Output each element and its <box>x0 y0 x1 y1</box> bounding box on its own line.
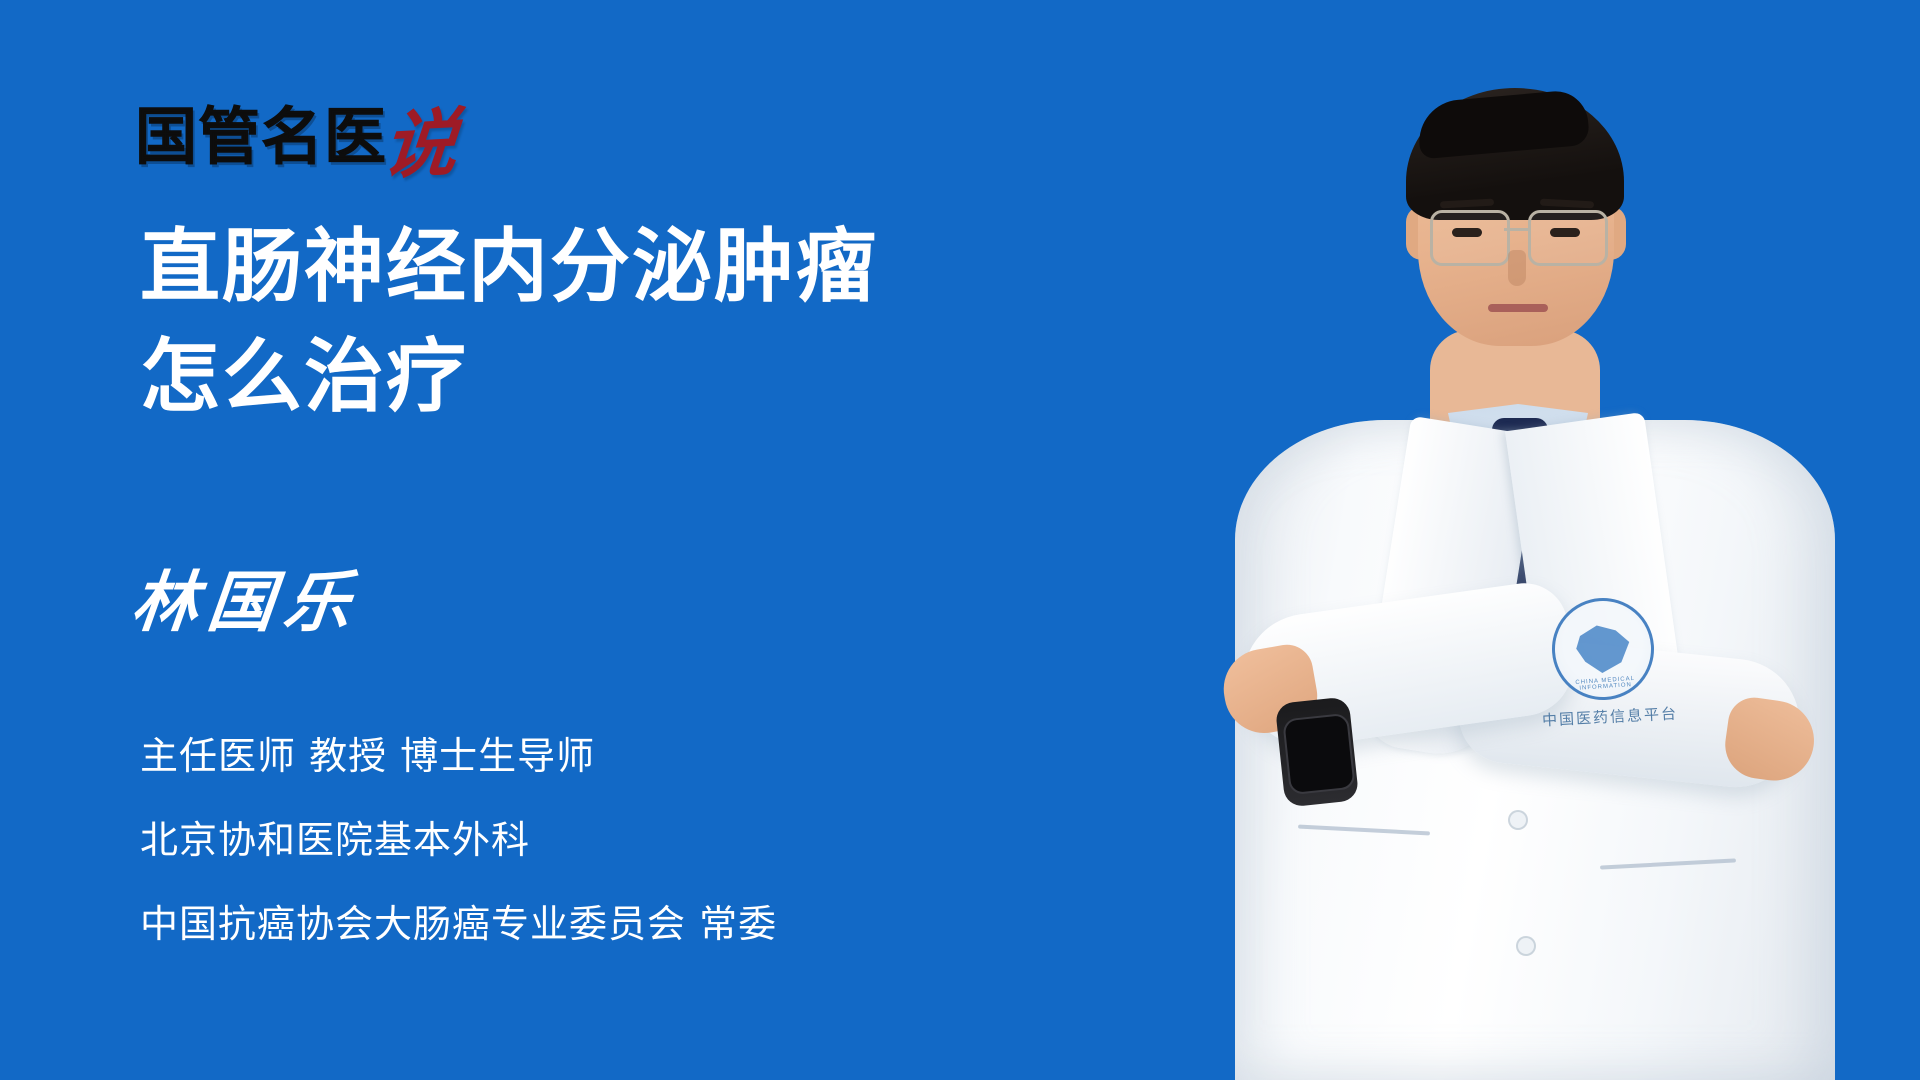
coat-button-lower <box>1518 938 1534 954</box>
eyeglasses-lens-right <box>1528 210 1608 266</box>
eye-right <box>1550 228 1580 237</box>
credential-line-1: 主任医师 教授 博士生导师 <box>140 714 1140 798</box>
page-title-line-2: 怎么治疗 <box>140 322 1140 432</box>
credential-line-3: 中国抗癌协会大肠癌专业委员会 常委 <box>140 882 1140 966</box>
coat-button-upper <box>1510 812 1526 828</box>
brand-logo-main-text: 国管名医 <box>135 106 387 168</box>
doctor-name: 林国乐 <box>128 562 364 642</box>
brand-logo: 国管名医 说 <box>135 96 457 168</box>
eyeglasses-bridge <box>1504 228 1530 231</box>
page-title-line-1: 直肠神经内分泌肿瘤 <box>140 212 1140 322</box>
emblem-map-shape <box>1572 621 1633 677</box>
credential-line-2: 北京协和医院基本外科 <box>140 798 1140 882</box>
doctor-portrait-photo <box>1130 0 1920 1080</box>
brand-logo-accent-text: 说 <box>380 112 460 178</box>
doctor-credentials: 主任医师 教授 博士生导师 北京协和医院基本外科 中国抗癌协会大肠癌专业委员会 … <box>140 714 1140 966</box>
nose <box>1508 250 1526 286</box>
mouth <box>1488 304 1548 312</box>
page-title: 直肠神经内分泌肿瘤 怎么治疗 <box>140 212 1140 432</box>
eye-left <box>1452 228 1482 237</box>
video-thumbnail-slide: 国管名医 说 直肠神经内分泌肿瘤 怎么治疗 林国乐 主任医师 教授 博士生导师 … <box>0 0 1920 1080</box>
wristwatch-face <box>1282 713 1356 795</box>
eyeglasses-lens-left <box>1430 210 1510 266</box>
